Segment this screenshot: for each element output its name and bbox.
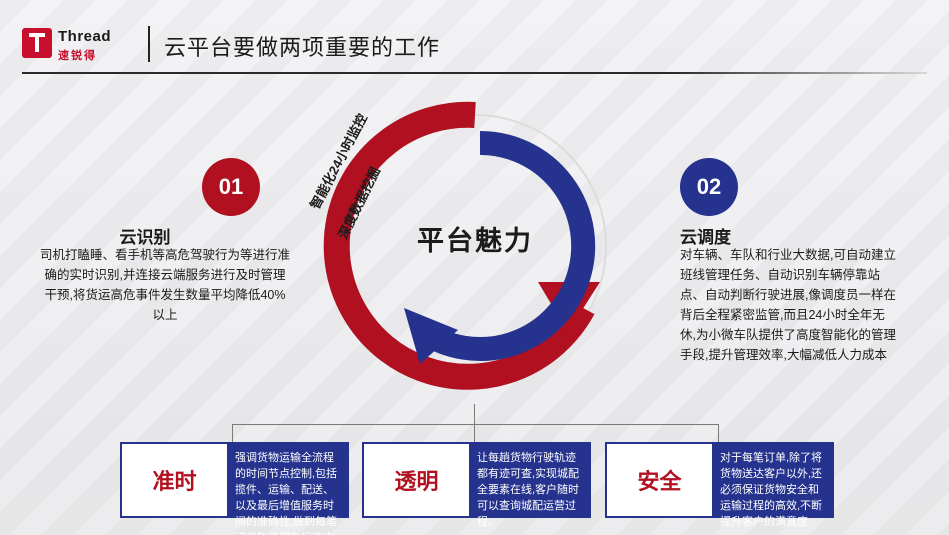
card-ontime-key: 准时 <box>122 444 227 516</box>
logo-mark-icon <box>22 28 52 58</box>
card-ontime-desc: 强调货物运输全流程的时间节点控制,包括揽件、运输、配送、以及最后增值服务时间的准… <box>227 444 347 516</box>
section-02-body: 对车辆、车队和行业大数据,可自动建立班线管理任务、自动识别车辆停靠站点、自动判断… <box>680 245 898 365</box>
badge-02-number: 02 <box>697 174 721 200</box>
slide-canvas: Thread 速锐得 云平台要做两项重要的工作 平台魅力 智能化24小时监控 深… <box>0 0 949 535</box>
badge-01-number: 01 <box>219 174 243 200</box>
card-safety[interactable]: 安全 对于每笔订单,除了将货物送达客户以外,还必须保证货物安全和运输过程的高效,… <box>605 442 834 518</box>
connector-down-left <box>232 424 233 442</box>
logo-text: Thread <box>58 28 111 45</box>
central-ring-diagram: 平台魅力 智能化24小时监控 深度数据挖掘 <box>300 86 650 406</box>
connector-down-right <box>718 424 719 442</box>
card-transparent-key: 透明 <box>364 444 469 516</box>
page-title: 云平台要做两项重要的工作 <box>164 30 440 62</box>
brand-logo: Thread 速锐得 <box>22 26 134 66</box>
section-01-body: 司机打瞌睡、看手机等高危驾驶行为等进行准确的实时识别,并连接云端服务进行及时管理… <box>40 245 290 325</box>
connector-horizontal <box>232 424 718 425</box>
card-transparent[interactable]: 透明 让每趟货物行驶轨迹都有迹可查,实现城配全要素在线,客户随时可以查询城配运营… <box>362 442 591 518</box>
connector-up-center <box>474 404 475 424</box>
card-safety-key: 安全 <box>607 444 712 516</box>
header-rule <box>22 72 927 74</box>
badge-02: 02 <box>680 158 738 216</box>
badge-01: 01 <box>202 158 260 216</box>
card-ontime[interactable]: 准时 强调货物运输全流程的时间节点控制,包括揽件、运输、配送、以及最后增值服务时… <box>120 442 349 518</box>
card-transparent-desc: 让每趟货物行驶轨迹都有迹可查,实现城配全要素在线,客户随时可以查询城配运营过程。 <box>469 444 589 516</box>
logo-subtext: 速锐得 <box>58 47 97 63</box>
header-divider <box>148 26 150 62</box>
card-safety-desc: 对于每笔订单,除了将货物送达客户以外,还必须保证货物安全和运输过程的高效,不断提… <box>712 444 832 516</box>
connector-down-center <box>474 424 475 442</box>
